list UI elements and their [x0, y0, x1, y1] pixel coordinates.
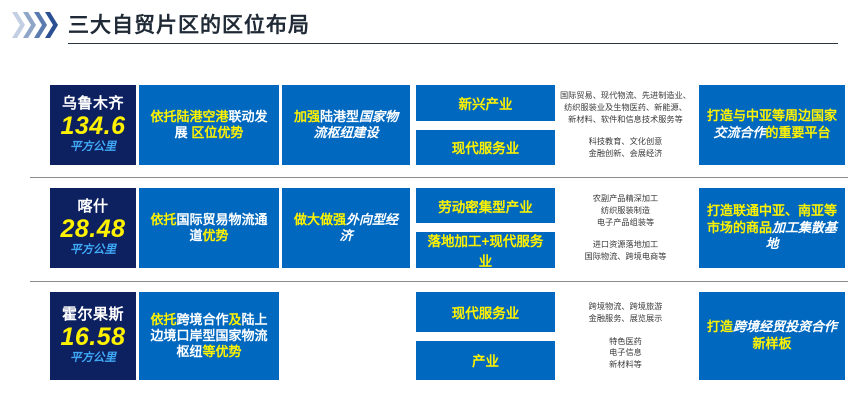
advantage-text: 依托跨境合作及陆上边境口岸型国家物流枢纽等优势 — [145, 312, 273, 361]
industry-detail-line: 农副产品精深加工 — [593, 193, 659, 205]
strategy1-segment: 优势 — [203, 228, 229, 243]
orientation-segment: 外向型经济 — [339, 212, 398, 243]
strategy1-segment: 及 — [229, 312, 242, 327]
goal-text: 打造跨境经贸投资合作新样板 — [705, 319, 839, 353]
industry-chip[interactable]: 落地加工+现代服务业 — [416, 232, 555, 268]
industry-chip[interactable]: 现代服务业 — [416, 292, 555, 332]
industry-detail-line: 金融服务、展览展示 — [589, 313, 663, 325]
goal-cell[interactable]: 打造跨境经贸投资合作新样板 — [699, 292, 845, 380]
city-block[interactable]: 霍尔果斯16.58平方公里 — [50, 292, 136, 380]
industry-detail-list: 农副产品精深加工纺织服装制造电子产品组装等进口资源落地加工国际物流、跨境电商等 — [558, 188, 693, 268]
goal-segment: 加工集散基地 — [765, 220, 837, 252]
industry-detail-line: 电子信息 — [609, 347, 642, 359]
row-divider — [30, 177, 848, 178]
goal-segment: 打造联通中亚、南亚等 — [707, 203, 837, 218]
city-block[interactable]: 喀什28.48平方公里 — [50, 188, 136, 268]
strategy1-segment: 跨境合作 — [176, 312, 228, 327]
row-divider — [30, 281, 848, 282]
industry-detail-line: 特色医药 — [609, 336, 642, 348]
city-area-value: 28.48 — [60, 216, 125, 242]
goal-segment: 打造 — [707, 319, 733, 334]
goal-segment: 市场的商品 — [707, 220, 772, 235]
table-row: 霍尔果斯16.58平方公里依托跨境合作及陆上边境口岸型国家物流枢纽等优势现代服务… — [0, 52, 856, 163]
industry-detail-block: 跨境物流、跨境旅游金融服务、展览展示 — [589, 301, 663, 325]
page-title: 三大自贸片区的区位布局 — [68, 9, 310, 39]
page-header: 三大自贸片区的区位布局 — [0, 0, 856, 52]
industry-chip[interactable]: 产业 — [416, 341, 555, 381]
industry-detail-line: 新材料等 — [609, 359, 642, 371]
advantage-text: 依托国际贸易物流通道优势 — [145, 212, 273, 245]
industry-detail-block: 特色医药电子信息新材料等 — [609, 336, 642, 372]
orientation-text: 做大做强外向型经济 — [288, 212, 404, 245]
city-area-value: 16.58 — [60, 324, 125, 350]
industry-detail-line: 进口资源落地加工 — [585, 239, 667, 251]
title-underline — [68, 43, 838, 44]
industry-detail-line: 电子产品组装等 — [593, 217, 659, 229]
industry-group: 现代服务业产业 — [416, 292, 555, 380]
city-name: 喀什 — [77, 199, 108, 215]
strategy1-segment: 依托 — [150, 312, 176, 327]
industry-detail-block: 农副产品精深加工纺织服装制造电子产品组装等 — [593, 193, 659, 229]
advantage-cell[interactable]: 依托国际贸易物流通道优势 — [139, 188, 279, 268]
chevron-4-icon — [45, 12, 58, 38]
orientation-segment: 做大做强 — [294, 212, 346, 227]
strategy1-segment: 等优势 — [203, 344, 242, 359]
strategy1-segment: 依托 — [150, 212, 176, 227]
industry-detail-line: 跨境物流、跨境旅游 — [589, 301, 663, 313]
advantage-cell[interactable]: 依托跨境合作及陆上边境口岸型国家物流枢纽等优势 — [139, 292, 279, 380]
industry-group: 劳动密集型产业落地加工+现代服务业 — [416, 188, 555, 268]
goal-text: 打造联通中亚、南亚等市场的商品加工集散基地 — [705, 203, 839, 254]
industry-detail-block: 进口资源落地加工国际物流、跨境电商等 — [585, 239, 667, 263]
industry-detail-list: 跨境物流、跨境旅游金融服务、展览展示特色医药电子信息新材料等 — [558, 292, 693, 380]
double-chevron-right-icon — [12, 12, 64, 38]
industry-chip[interactable]: 劳动密集型产业 — [416, 188, 555, 223]
city-area-unit: 平方公里 — [70, 244, 116, 256]
orientation-cell[interactable]: 做大做强外向型经济 — [282, 188, 410, 268]
industry-detail-line: 纺织服装制造 — [593, 205, 659, 217]
goal-segment: 跨境经贸投资合作 — [733, 319, 837, 334]
goal-cell[interactable]: 打造联通中亚、南亚等市场的商品加工集散基地 — [699, 188, 845, 268]
goal-segment: 新样板 — [752, 336, 791, 351]
city-area-unit: 平方公里 — [70, 352, 116, 364]
industry-detail-line: 国际物流、跨境电商等 — [585, 251, 667, 263]
city-name: 霍尔果斯 — [62, 307, 124, 323]
